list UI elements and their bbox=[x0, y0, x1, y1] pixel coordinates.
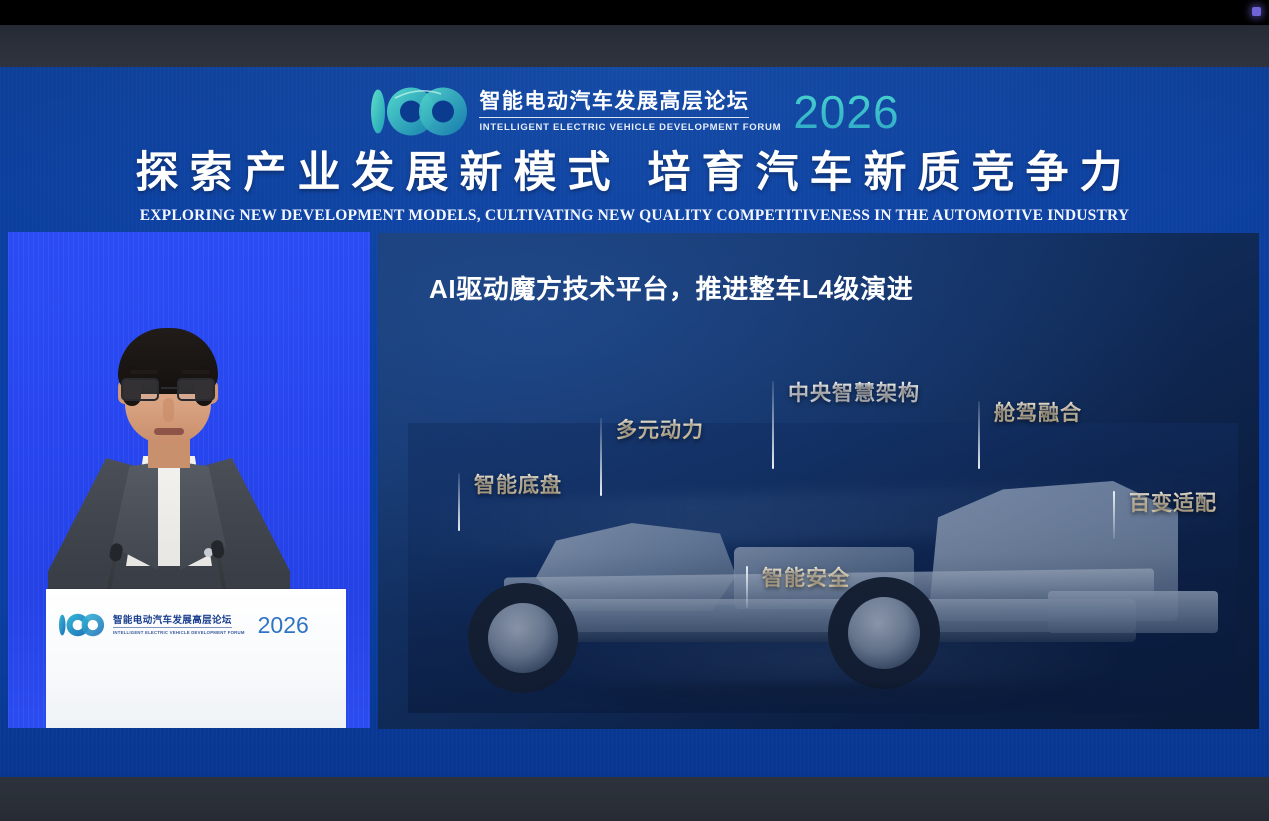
callout-label: 多元动力 bbox=[616, 418, 704, 444]
podium-ico-logo-icon bbox=[58, 612, 106, 638]
glasses-lens-left bbox=[121, 378, 159, 401]
callout-tick bbox=[772, 381, 774, 469]
callout-cockpit-fusion: 舱驾融合 bbox=[978, 401, 1082, 469]
presentation-slide[interactable]: AI驱动魔方技术平台，推进整车L4级演进 智能底盘 多元动力 中央 bbox=[378, 233, 1259, 729]
forum-logo-row: 智能电动汽车发展高层论坛 INTELLIGENT ELECTRIC VEHICL… bbox=[0, 84, 1269, 139]
forum-year: 2026 bbox=[793, 89, 899, 135]
callout-tick bbox=[458, 473, 460, 531]
recording-indicator-dot[interactable] bbox=[1252, 7, 1261, 16]
callout-versatile-adaptation: 百变适配 bbox=[1113, 491, 1217, 539]
forum-brand-en: INTELLIGENT ELECTRIC VEHICLE DEVELOPMENT… bbox=[479, 121, 781, 135]
speaker-mouth bbox=[154, 428, 184, 435]
podium-year: 2026 bbox=[258, 614, 309, 637]
livestream-stage: 智能电动汽车发展高层论坛 INTELLIGENT ELECTRIC VEHICL… bbox=[0, 0, 1269, 821]
callout-multi-power: 多元动力 bbox=[600, 418, 704, 496]
callout-tick bbox=[600, 418, 602, 496]
callout-label: 智能安全 bbox=[762, 566, 850, 592]
callout-smart-safety: 智能安全 bbox=[746, 566, 850, 608]
speaker-video-panel[interactable]: 智能电动汽车发展高层论坛 INTELLIGENT ELECTRIC VEHICL… bbox=[8, 232, 370, 728]
callout-tick bbox=[1113, 491, 1115, 539]
speaker-brow-left bbox=[130, 370, 158, 374]
callout-label: 百变适配 bbox=[1129, 491, 1217, 517]
podium-logo: 智能电动汽车发展高层论坛 INTELLIGENT ELECTRIC VEHICL… bbox=[58, 601, 334, 649]
speaker-brow-right bbox=[182, 370, 210, 374]
slide-title: AI驱动魔方技术平台，推进整车L4级演进 bbox=[429, 272, 913, 306]
bottom-chrome-band bbox=[0, 777, 1269, 821]
top-black-band bbox=[0, 0, 1269, 25]
callout-label: 智能底盘 bbox=[474, 473, 562, 499]
callout-central-architecture: 中央智慧架构 bbox=[772, 381, 920, 469]
forum-brand-text: 智能电动汽车发展高层论坛 INTELLIGENT ELECTRIC VEHICL… bbox=[479, 89, 781, 135]
podium-brand-text: 智能电动汽车发展高层论坛 INTELLIGENT ELECTRIC VEHICL… bbox=[113, 615, 245, 636]
ico-circles-logo-icon bbox=[369, 84, 471, 139]
callout-smart-chassis: 智能底盘 bbox=[458, 473, 562, 531]
callout-tick bbox=[746, 566, 748, 608]
top-chrome-band bbox=[0, 25, 1269, 67]
forum-header: 智能电动汽车发展高层论坛 INTELLIGENT ELECTRIC VEHICL… bbox=[0, 67, 1269, 232]
glasses-lens-right bbox=[177, 378, 215, 401]
speaker-nose bbox=[163, 398, 174, 422]
podium-brand-en: INTELLIGENT ELECTRIC VEHICLE DEVELOPMENT… bbox=[113, 629, 245, 636]
forum-brand-cn: 智能电动汽车发展高层论坛 bbox=[479, 89, 749, 118]
forum-slogan-en: EXPLORING NEW DEVELOPMENT MODELS, CULTIV… bbox=[0, 206, 1269, 226]
callout-label: 中央智慧架构 bbox=[788, 381, 920, 407]
callout-tick bbox=[978, 401, 980, 469]
podium-brand-cn: 智能电动汽车发展高层论坛 bbox=[113, 615, 232, 628]
callout-label: 舱驾融合 bbox=[994, 401, 1082, 427]
podium-panel: 智能电动汽车发展高层论坛 INTELLIGENT ELECTRIC VEHICL… bbox=[46, 589, 346, 728]
forum-slogan-cn: 探索产业发展新模式 培育汽车新质竞争力 bbox=[0, 147, 1269, 199]
glasses-bridge bbox=[161, 387, 177, 389]
